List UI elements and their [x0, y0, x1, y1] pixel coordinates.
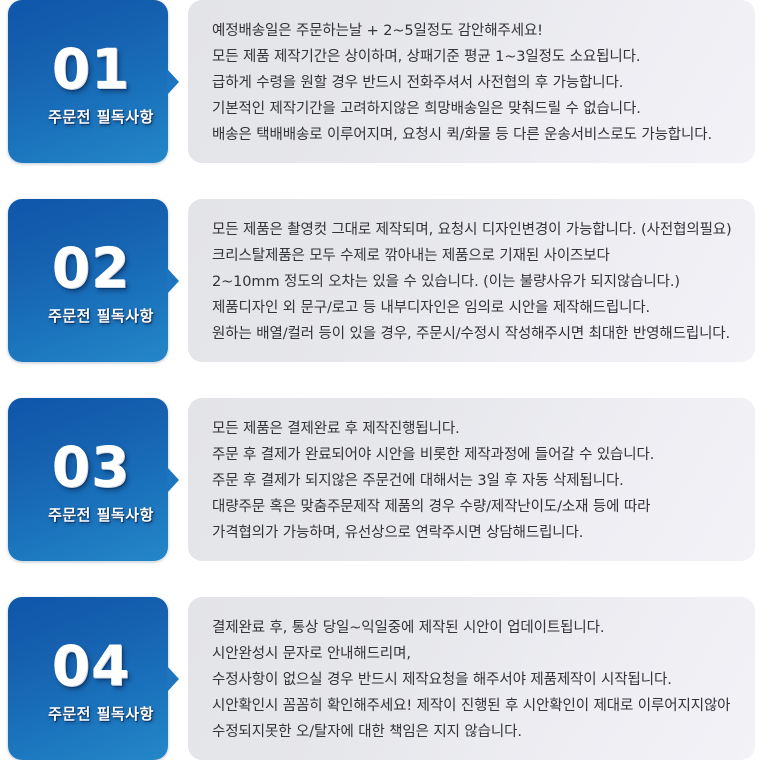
notice-block: 04 주문전 필독사항 결제완료 후, 통상 당일~익일중에 제작된 시안이 업…	[0, 597, 770, 760]
panel-text: 모든 제품은 결제완료 후 제작진행됩니다. 주문 후 결제가 완료되어야 시안…	[212, 416, 733, 546]
notice-badge-03: 03 주문전 필독사항	[8, 398, 168, 561]
panel-line: 2~10mm 정도의 오차는 있을 수 있습니다. (이는 불량사유가 되지않습…	[212, 269, 733, 295]
notice-badge-01: 01 주문전 필독사항	[8, 0, 168, 163]
panel-line: 기본적인 제작기간을 고려하지않은 희망배송일은 맞춰드릴 수 없습니다.	[212, 96, 733, 122]
panel-text: 결제완료 후, 통상 당일~익일중에 제작된 시안이 업데이트됩니다. 시안완성…	[212, 615, 733, 745]
badge-label: 주문전 필독사항	[48, 305, 154, 326]
panel-line: 시안확인시 꼼꼼히 확인해주세요! 제작이 진행된 후 시안확인이 제대로 이루…	[212, 693, 733, 719]
notice-block: 02 주문전 필독사항 모든 제품은 촬영컷 그대로 제작되며, 요청시 디자인…	[0, 199, 770, 362]
badge-label: 주문전 필독사항	[48, 504, 154, 525]
panel-line: 시안완성시 문자로 안내해드리며,	[212, 641, 733, 667]
badge-number: 04	[52, 639, 131, 694]
panel-line: 크리스탈제품은 모두 수제로 깎아내는 제품으로 기재된 사이즈보다	[212, 243, 733, 269]
badge-content: 02 주문전 필독사항	[8, 199, 168, 362]
notice-panel-03: 모든 제품은 결제완료 후 제작진행됩니다. 주문 후 결제가 완료되어야 시안…	[188, 398, 755, 561]
badge-number: 03	[52, 440, 131, 495]
notice-panel-01: 예정배송일은 주문하는날 + 2~5일정도 감안해주세요! 모든 제품 제작기간…	[188, 0, 755, 163]
panel-line: 급하게 수령을 원할 경우 반드시 전화주셔서 사전협의 후 가능합니다.	[212, 70, 733, 96]
panel-text: 모든 제품은 촬영컷 그대로 제작되며, 요청시 디자인변경이 가능합니다. (…	[212, 217, 733, 347]
panel-line: 모든 제품은 촬영컷 그대로 제작되며, 요청시 디자인변경이 가능합니다. (…	[212, 217, 733, 243]
notice-block: 03 주문전 필독사항 모든 제품은 결제완료 후 제작진행됩니다. 주문 후 …	[0, 398, 770, 561]
badge-label: 주문전 필독사항	[48, 703, 154, 724]
badge-arrow-icon	[167, 666, 179, 692]
badge-content: 01 주문전 필독사항	[8, 0, 168, 163]
panel-line: 수정사항이 없으실 경우 반드시 제작요청을 해주서야 제품제작이 시작됩니다.	[212, 667, 733, 693]
panel-line: 배송은 택배배송로 이루어지며, 요청시 퀵/화물 등 다른 운송서비스로도 가…	[212, 122, 733, 148]
panel-line: 원하는 배열/컬러 등이 있을 경우, 주문시/수정시 작성해주시면 최대한 반…	[212, 321, 733, 347]
notice-list: 01 주문전 필독사항 예정배송일은 주문하는날 + 2~5일정도 감안해주세요…	[0, 0, 770, 756]
panel-line: 주문 후 결제가 완료되어야 시안을 비롯한 제작과정에 들어갈 수 있습니다.	[212, 442, 733, 468]
panel-line: 예정배송일은 주문하는날 + 2~5일정도 감안해주세요!	[212, 18, 733, 44]
badge-number: 02	[52, 241, 131, 296]
badge-arrow-icon	[167, 268, 179, 294]
badge-number: 01	[52, 42, 131, 97]
panel-line: 결제완료 후, 통상 당일~익일중에 제작된 시안이 업데이트됩니다.	[212, 615, 733, 641]
panel-line: 모든 제품 제작기간은 상이하며, 상패기준 평균 1~3일정도 소요됩니다.	[212, 44, 733, 70]
panel-line: 수정되지못한 오/탈자에 대한 책임은 지지 않습니다.	[212, 719, 733, 745]
notice-block: 01 주문전 필독사항 예정배송일은 주문하는날 + 2~5일정도 감안해주세요…	[0, 0, 770, 163]
notice-panel-04: 결제완료 후, 통상 당일~익일중에 제작된 시안이 업데이트됩니다. 시안완성…	[188, 597, 755, 760]
badge-content: 03 주문전 필독사항	[8, 398, 168, 561]
notice-badge-04: 04 주문전 필독사항	[8, 597, 168, 760]
panel-line: 제품디자인 외 문구/로고 등 내부디자인은 임의로 시안을 제작해드립니다.	[212, 295, 733, 321]
panel-line: 대량주문 혹은 맞춤주문제작 제품의 경우 수량/제작난이도/소재 등에 따라	[212, 494, 733, 520]
badge-content: 04 주문전 필독사항	[8, 597, 168, 760]
badge-arrow-icon	[167, 467, 179, 493]
panel-line: 가격협의가 가능하며, 유선상으로 연락주시면 상담해드립니다.	[212, 520, 733, 546]
notice-panel-02: 모든 제품은 촬영컷 그대로 제작되며, 요청시 디자인변경이 가능합니다. (…	[188, 199, 755, 362]
badge-label: 주문전 필독사항	[48, 106, 154, 127]
notice-badge-02: 02 주문전 필독사항	[8, 199, 168, 362]
panel-line: 주문 후 결제가 되지않은 주문건에 대해서는 3일 후 자동 삭제됩니다.	[212, 468, 733, 494]
badge-arrow-icon	[167, 69, 179, 95]
panel-line: 모든 제품은 결제완료 후 제작진행됩니다.	[212, 416, 733, 442]
panel-text: 예정배송일은 주문하는날 + 2~5일정도 감안해주세요! 모든 제품 제작기간…	[212, 18, 733, 148]
